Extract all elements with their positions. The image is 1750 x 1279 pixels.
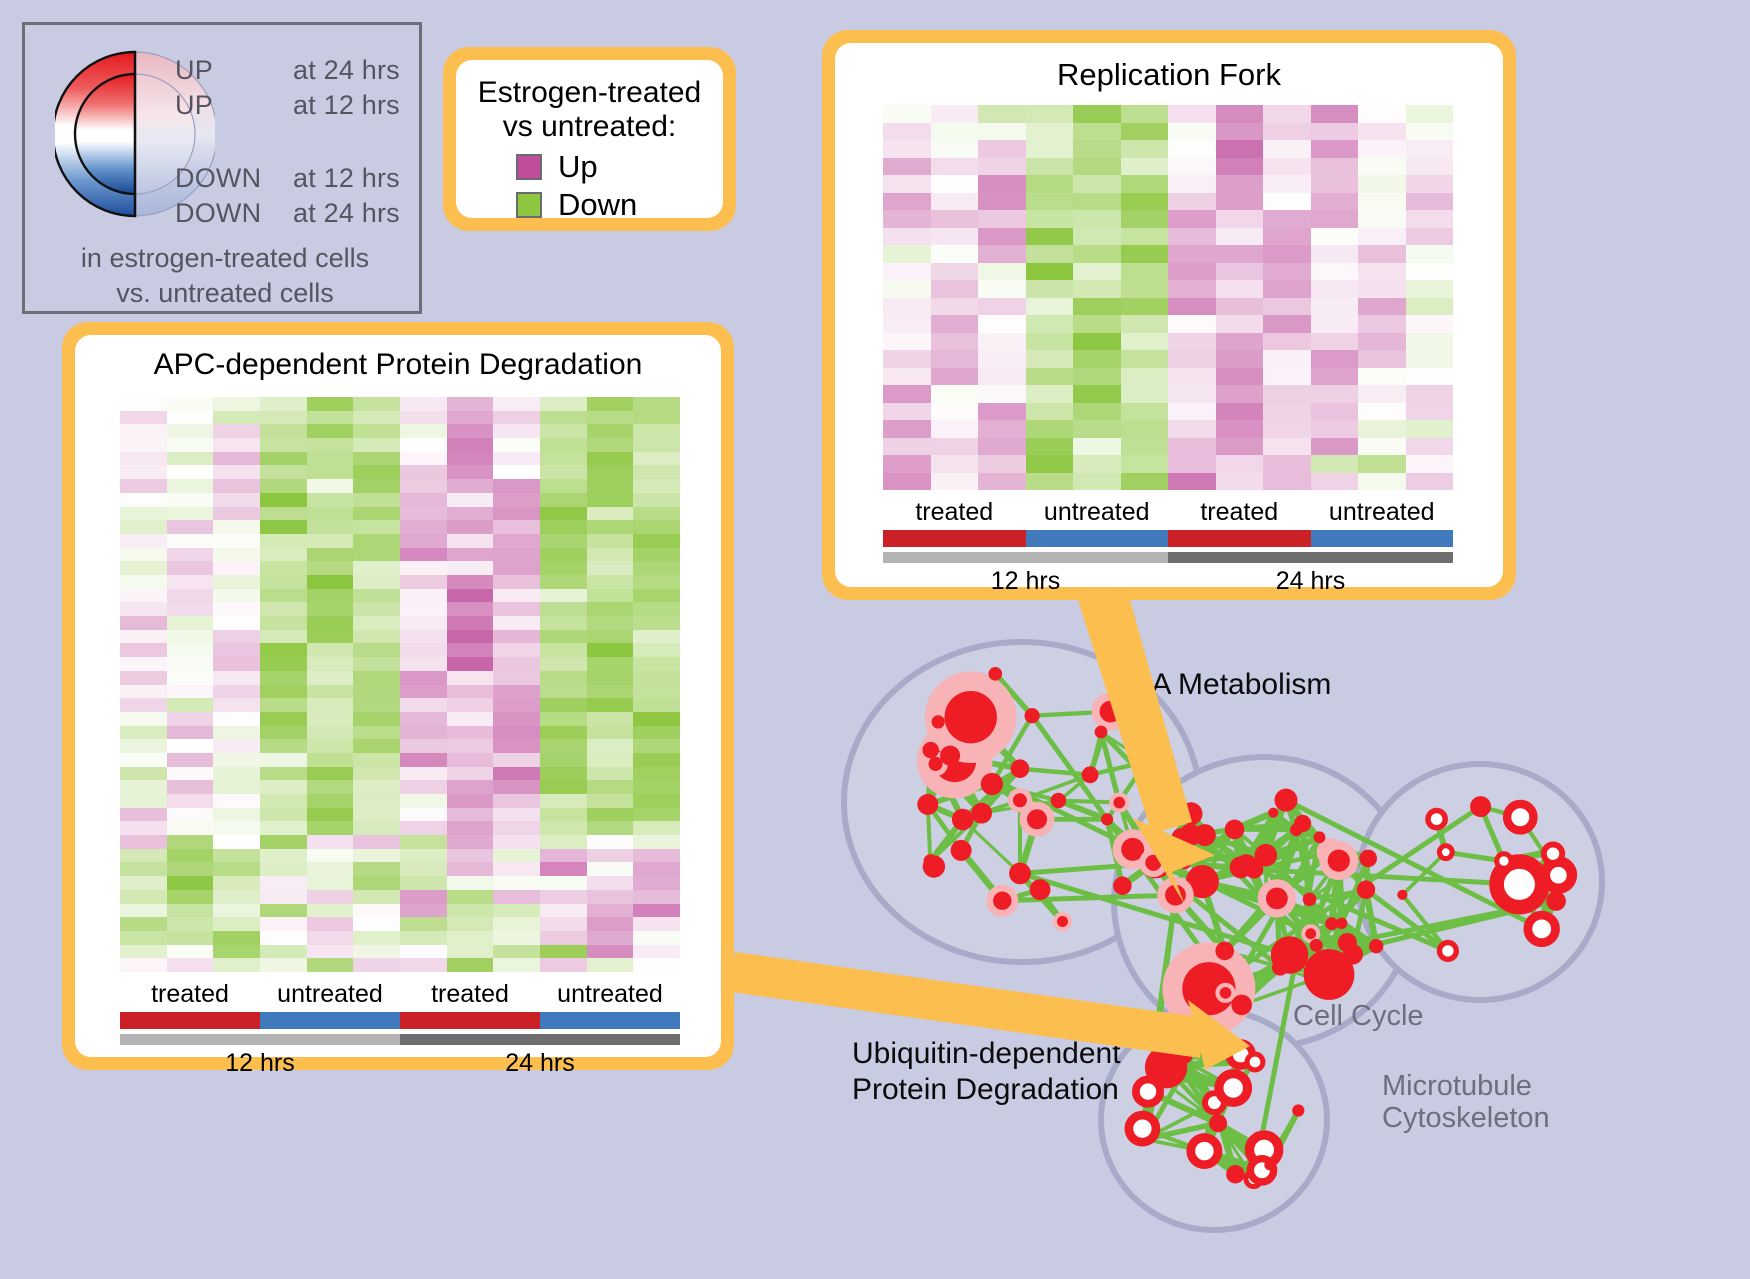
heatmap-cell: [1263, 105, 1311, 123]
network-node[interactable]: [923, 742, 939, 758]
heatmap-cell: [213, 479, 260, 493]
heatmap-cell: [540, 767, 587, 781]
network-node[interactable]: [1162, 942, 1255, 1035]
network-node-circle: [1013, 793, 1027, 807]
heatmap-cell: [633, 904, 680, 918]
apc-time-labels: 12 hrs 24 hrs: [120, 1049, 680, 1078]
network-node[interactable]: [1497, 854, 1511, 868]
heatmap-cell: [260, 794, 307, 808]
heatmap-cell: [1263, 280, 1311, 298]
heatmap-cell: [400, 767, 447, 781]
heatmap-cell: [167, 479, 214, 493]
heatmap-cell: [633, 616, 680, 630]
network-node[interactable]: [1215, 983, 1235, 1003]
heatmap-cell: [167, 424, 214, 438]
heatmap-cell: [493, 739, 540, 753]
heatmap-cell: [1358, 210, 1406, 228]
network-node[interactable]: [1011, 759, 1030, 778]
heatmap-cell: [633, 465, 680, 479]
heatmap-cell: [540, 602, 587, 616]
condition-bar-treated-12: [883, 530, 1026, 547]
heatmap-cell: [260, 945, 307, 959]
network-node[interactable]: [1303, 893, 1317, 907]
heatmap-cell: [883, 438, 931, 456]
heatmap-cell: [307, 630, 354, 644]
heatmap-cell: [167, 630, 214, 644]
network-node-circle: [981, 773, 1003, 795]
network-node[interactable]: [1245, 860, 1263, 878]
network-node[interactable]: [1359, 850, 1377, 868]
network-node[interactable]: [1258, 879, 1296, 917]
replication-fork-annotation: treated untreated treated untreated 12 h…: [883, 498, 1453, 596]
heatmap-cell: [587, 643, 634, 657]
heatmap-cell: [213, 452, 260, 466]
heatmap-cell: [400, 862, 447, 876]
heatmap-cell: [1026, 298, 1074, 316]
heatmap-cell: [540, 835, 587, 849]
heatmap-cell: [1358, 193, 1406, 211]
heatmap-cell: [167, 452, 214, 466]
key-time-label: at 24 hrs: [293, 55, 400, 86]
network-node[interactable]: [1209, 1114, 1227, 1132]
network-node-circle: [1264, 1160, 1274, 1170]
network-node[interactable]: [1325, 917, 1338, 930]
network-node[interactable]: [1225, 820, 1245, 840]
expression-key-box: UP at 24 hrs UP at 12 hrs DOWN at 12 hrs…: [22, 22, 422, 314]
heatmap-cell: [307, 945, 354, 959]
heatmap-cell: [540, 438, 587, 452]
heatmap-cell: [1168, 193, 1216, 211]
heatmap-cell: [1121, 280, 1169, 298]
network-node[interactable]: [1051, 793, 1066, 808]
network-node[interactable]: [981, 773, 1003, 795]
network-node[interactable]: [1025, 708, 1040, 723]
heatmap-cell: [167, 397, 214, 411]
heatmap-cell: [1311, 368, 1359, 386]
pathway-network-diagram: [790, 620, 1750, 1279]
heatmap-cell: [1358, 158, 1406, 176]
heatmap-cell: [167, 849, 214, 863]
network-node[interactable]: [1528, 915, 1556, 943]
network-node[interactable]: [1129, 1115, 1156, 1142]
heatmap-cell: [1026, 263, 1074, 281]
heatmap-cell: [587, 712, 634, 726]
network-node[interactable]: [1053, 912, 1072, 931]
heatmap-cell: [260, 739, 307, 753]
heatmap-cell: [1216, 245, 1264, 263]
network-node-circle: [1009, 863, 1031, 885]
heatmap-cell: [353, 671, 400, 685]
heatmap-cell: [1358, 123, 1406, 141]
heatmap-cell: [540, 589, 587, 603]
network-node[interactable]: [1275, 789, 1298, 812]
heatmap-cell: [1121, 368, 1169, 386]
network-node[interactable]: [1174, 1052, 1186, 1064]
heatmap-cell: [1168, 123, 1216, 141]
heatmap-cell: [307, 479, 354, 493]
heatmap-cell: [587, 958, 634, 972]
heatmap-cell: [307, 548, 354, 562]
heatmap-cell: [353, 602, 400, 616]
heatmap-cell: [260, 602, 307, 616]
heatmap-cell: [1406, 333, 1454, 351]
network-node[interactable]: [1397, 890, 1407, 900]
condition-bar-untreated-24: [540, 1012, 680, 1029]
network-node[interactable]: [1470, 796, 1491, 817]
network-node[interactable]: [1357, 881, 1375, 899]
heatmap-cell: [353, 890, 400, 904]
heatmap-cell: [633, 726, 680, 740]
heatmap-cell: [1216, 158, 1264, 176]
network-node[interactable]: [1546, 891, 1566, 911]
heatmap-cell: [260, 616, 307, 630]
network-node[interactable]: [1009, 863, 1031, 885]
heatmap-cell: [213, 534, 260, 548]
heatmap-cell: [307, 780, 354, 794]
heatmap-cell: [120, 575, 167, 589]
heatmap-cell: [1311, 298, 1359, 316]
heatmap-cell: [1073, 245, 1121, 263]
heatmap-cell: [1311, 140, 1359, 158]
heatmap-cell: [633, 452, 680, 466]
network-node-circle: [1149, 1068, 1166, 1085]
network-node-circle: [1528, 915, 1556, 943]
heatmap-cell: [633, 602, 680, 616]
heatmap-cell: [120, 602, 167, 616]
network-node[interactable]: [1507, 804, 1533, 830]
network-node-circle: [1145, 855, 1161, 871]
heatmap-cell: [1263, 245, 1311, 263]
network-node[interactable]: [1428, 811, 1445, 828]
heatmap-cell: [540, 397, 587, 411]
heatmap-cell: [493, 726, 540, 740]
heatmap-cell: [587, 534, 634, 548]
heatmap-cell: [353, 507, 400, 521]
heatmap-cell: [260, 780, 307, 794]
network-node[interactable]: [1314, 831, 1326, 843]
group-label-treated-12: treated: [883, 498, 1026, 527]
heatmap-cell: [353, 630, 400, 644]
heatmap-cell: [167, 411, 214, 425]
heatmap-cell: [1168, 368, 1216, 386]
heatmap-cell: [213, 616, 260, 630]
legend-title-line2: vs untreated:: [456, 110, 723, 144]
heatmap-cell: [633, 794, 680, 808]
heatmap-cell: [307, 890, 354, 904]
heatmap-cell: [120, 794, 167, 808]
heatmap-cell: [307, 657, 354, 671]
heatmap-cell: [540, 876, 587, 890]
network-node[interactable]: [1157, 877, 1193, 913]
heatmap-cell: [493, 876, 540, 890]
legend-item-down-label: Down: [558, 187, 637, 223]
network-node-circle: [1100, 701, 1122, 723]
heatmap-cell: [167, 739, 214, 753]
network-node-circle: [923, 742, 939, 758]
heatmap-cell: [931, 263, 979, 281]
network-node[interactable]: [1319, 841, 1358, 880]
heatmap-cell: [540, 794, 587, 808]
heatmap-cell: [213, 958, 260, 972]
heatmap-cell: [493, 821, 540, 835]
heatmap-cell: [587, 397, 634, 411]
heatmap-cell: [1263, 350, 1311, 368]
heatmap-cell: [883, 403, 931, 421]
heatmap-cell: [931, 175, 979, 193]
key-text-column: UP at 24 hrs UP at 12 hrs DOWN at 12 hrs…: [175, 55, 425, 229]
network-node[interactable]: [1191, 1138, 1218, 1165]
heatmap-cell: [1406, 350, 1454, 368]
heatmap-cell: [167, 958, 214, 972]
heatmap-cell: [1121, 228, 1169, 246]
network-node[interactable]: [1292, 1104, 1304, 1116]
heatmap-cell: [587, 424, 634, 438]
network-node[interactable]: [940, 746, 960, 766]
heatmap-cell: [493, 493, 540, 507]
heatmap-cell: [1311, 315, 1359, 333]
heatmap-cell: [353, 548, 400, 562]
network-node-circle: [1057, 916, 1068, 927]
heatmap-cell: [307, 931, 354, 945]
cluster-label-cell-cycle: Cell Cycle: [1293, 1000, 1424, 1032]
network-node[interactable]: [1247, 1054, 1263, 1070]
heatmap-cell: [493, 575, 540, 589]
network-node[interactable]: [1109, 793, 1129, 813]
heatmap-cell: [931, 333, 979, 351]
heatmap-cell: [1216, 228, 1264, 246]
network-node[interactable]: [1139, 849, 1168, 878]
heatmap-cell: [447, 945, 494, 959]
heatmap-cell: [931, 210, 979, 228]
network-node[interactable]: [1272, 959, 1289, 976]
apc-group-labels: treated untreated treated untreated: [120, 980, 680, 1009]
network-node[interactable]: [1215, 942, 1234, 961]
network-node[interactable]: [1440, 943, 1457, 960]
network-node[interactable]: [1546, 863, 1570, 887]
heatmap-cell: [633, 493, 680, 507]
heatmap-cell: [1263, 123, 1311, 141]
heatmap-cell: [167, 493, 214, 507]
heatmap-cell: [1073, 280, 1121, 298]
heatmap-cell: [1358, 228, 1406, 246]
network-node[interactable]: [1095, 726, 1108, 739]
heatmap-cell: [1026, 193, 1074, 211]
heatmap-cell: [633, 520, 680, 534]
heatmap-cell: [400, 602, 447, 616]
network-node-circle: [1209, 1114, 1227, 1132]
key-time-label: at 12 hrs: [293, 90, 400, 121]
heatmap-cell: [213, 821, 260, 835]
heatmap-cell: [1073, 193, 1121, 211]
heatmap-cell: [447, 643, 494, 657]
heatmap-cell: [447, 739, 494, 753]
heatmap-cell: [447, 575, 494, 589]
network-node[interactable]: [1310, 939, 1323, 952]
network-node[interactable]: [1343, 944, 1363, 964]
heatmap-cell: [978, 473, 1026, 491]
heatmap-cell: [1216, 280, 1264, 298]
heatmap-cell: [633, 643, 680, 657]
heatmap-cell: [307, 534, 354, 548]
network-node[interactable]: [1113, 877, 1131, 895]
key-row-down-24: DOWN at 24 hrs: [175, 198, 425, 229]
heatmap-cell: [447, 726, 494, 740]
heatmap-cell: [540, 821, 587, 835]
heatmap-cell: [1121, 105, 1169, 123]
heatmap-cell: [1311, 385, 1359, 403]
network-node-circle: [989, 667, 1003, 681]
heatmap-cell: [883, 263, 931, 281]
replication-fork-condition-bar: [883, 530, 1453, 547]
network-node[interactable]: [952, 809, 974, 831]
network-node-circle: [1011, 759, 1030, 778]
heatmap-cell: [931, 193, 979, 211]
heatmap-cell: [1168, 140, 1216, 158]
heatmap-cell: [931, 385, 979, 403]
condition-bar-treated-24: [1168, 530, 1311, 547]
heatmap-cell: [353, 876, 400, 890]
heatmap-cell: [1406, 105, 1454, 123]
heatmap-cell: [353, 849, 400, 863]
heatmap-cell: [1311, 350, 1359, 368]
heatmap-cell: [213, 493, 260, 507]
network-node[interactable]: [1179, 824, 1201, 846]
heatmap-cell: [633, 424, 680, 438]
network-node[interactable]: [1268, 808, 1278, 818]
heatmap-cell: [447, 534, 494, 548]
heatmap-cell: [1358, 175, 1406, 193]
heatmap-cell: [400, 753, 447, 767]
heatmap-cell: [1263, 420, 1311, 438]
group-label-untreated-24: untreated: [1311, 498, 1454, 527]
heatmap-cell: [883, 420, 931, 438]
legend-title: Estrogen-treated vs untreated:: [456, 76, 723, 143]
heatmap-cell: [1121, 438, 1169, 456]
heatmap-cell: [1406, 280, 1454, 298]
network-node[interactable]: [1101, 813, 1113, 825]
network-node[interactable]: [1082, 766, 1099, 783]
heatmap-cell: [1026, 350, 1074, 368]
heatmap-cell: [213, 712, 260, 726]
heatmap-cell: [1026, 123, 1074, 141]
network-node-circle: [1359, 850, 1377, 868]
network-node[interactable]: [923, 855, 945, 877]
network-node-circle: [1397, 890, 1407, 900]
network-node[interactable]: [1179, 858, 1190, 869]
heatmap-cell: [540, 479, 587, 493]
network-node[interactable]: [989, 667, 1003, 681]
heatmap-cell: [353, 794, 400, 808]
heatmap-cell: [400, 876, 447, 890]
heatmap-cell: [540, 561, 587, 575]
network-node[interactable]: [917, 794, 938, 815]
network-node[interactable]: [1008, 788, 1032, 812]
heatmap-cell: [1121, 473, 1169, 491]
key-direction-label: UP: [175, 90, 293, 121]
heatmap-cell: [1216, 455, 1264, 473]
heatmap-cell: [260, 589, 307, 603]
heatmap-cell: [587, 767, 634, 781]
heatmap-cell: [260, 890, 307, 904]
heatmap-cell: [493, 507, 540, 521]
heatmap-cell: [883, 298, 931, 316]
heatmap-cell: [493, 767, 540, 781]
network-node[interactable]: [1294, 815, 1311, 832]
heatmap-cell: [167, 685, 214, 699]
heatmap-cell: [353, 561, 400, 575]
network-node[interactable]: [971, 803, 992, 824]
heatmap-cell: [447, 753, 494, 767]
heatmap-cell: [353, 452, 400, 466]
network-node[interactable]: [1180, 802, 1203, 825]
heatmap-cell: [1168, 298, 1216, 316]
heatmap-cell: [1311, 245, 1359, 263]
network-node[interactable]: [1231, 995, 1252, 1016]
heatmap-cell: [213, 808, 260, 822]
heatmap-cell: [1073, 228, 1121, 246]
network-node[interactable]: [932, 715, 945, 728]
heatmap-cell: [120, 438, 167, 452]
heatmap-cell: [1073, 263, 1121, 281]
network-node[interactable]: [1226, 1165, 1244, 1183]
heatmap-cell: [1026, 473, 1074, 491]
network-node[interactable]: [1149, 1068, 1166, 1085]
network-node-circle: [1310, 939, 1323, 952]
heatmap-cell: [540, 657, 587, 671]
heatmap-cell: [931, 140, 979, 158]
heatmap-cell: [931, 280, 979, 298]
heatmap-cell: [213, 671, 260, 685]
heatmap-cell: [1406, 123, 1454, 141]
network-node[interactable]: [1305, 970, 1323, 988]
network-node-circle: [1266, 888, 1288, 910]
heatmap-cell: [540, 520, 587, 534]
heatmap-cell: [931, 245, 979, 263]
heatmap-cell: [1026, 158, 1074, 176]
network-node[interactable]: [1219, 1074, 1248, 1103]
heatmap-cell: [931, 298, 979, 316]
network-node[interactable]: [1264, 1160, 1274, 1170]
heatmap-cell: [167, 548, 214, 562]
heatmap-cell: [978, 350, 1026, 368]
heatmap-cell: [447, 465, 494, 479]
heatmap-cell: [1358, 385, 1406, 403]
heatmap-cell: [978, 263, 1026, 281]
network-node[interactable]: [1439, 846, 1452, 859]
network-node[interactable]: [1131, 747, 1161, 777]
heatmap-cell: [400, 397, 447, 411]
heatmap-cell: [260, 849, 307, 863]
heatmap-cell: [493, 438, 540, 452]
heatmap-cell: [1216, 420, 1264, 438]
heatmap-cell: [447, 698, 494, 712]
network-node[interactable]: [1369, 939, 1383, 953]
heatmap-cell: [633, 821, 680, 835]
heatmap-cell: [1216, 473, 1264, 491]
network-node[interactable]: [1030, 879, 1051, 900]
heatmap-cell: [260, 821, 307, 835]
network-node[interactable]: [951, 840, 972, 861]
heatmap-cell: [213, 630, 260, 644]
apc-degradation-heatmap: [120, 397, 680, 972]
heatmap-cell: [447, 808, 494, 822]
heatmap-cell: [167, 575, 214, 589]
heatmap-cell: [1406, 385, 1454, 403]
heatmap-cell: [883, 105, 931, 123]
heatmap-cell: [120, 712, 167, 726]
heatmap-cell: [978, 158, 1026, 176]
network-node[interactable]: [986, 885, 1018, 917]
